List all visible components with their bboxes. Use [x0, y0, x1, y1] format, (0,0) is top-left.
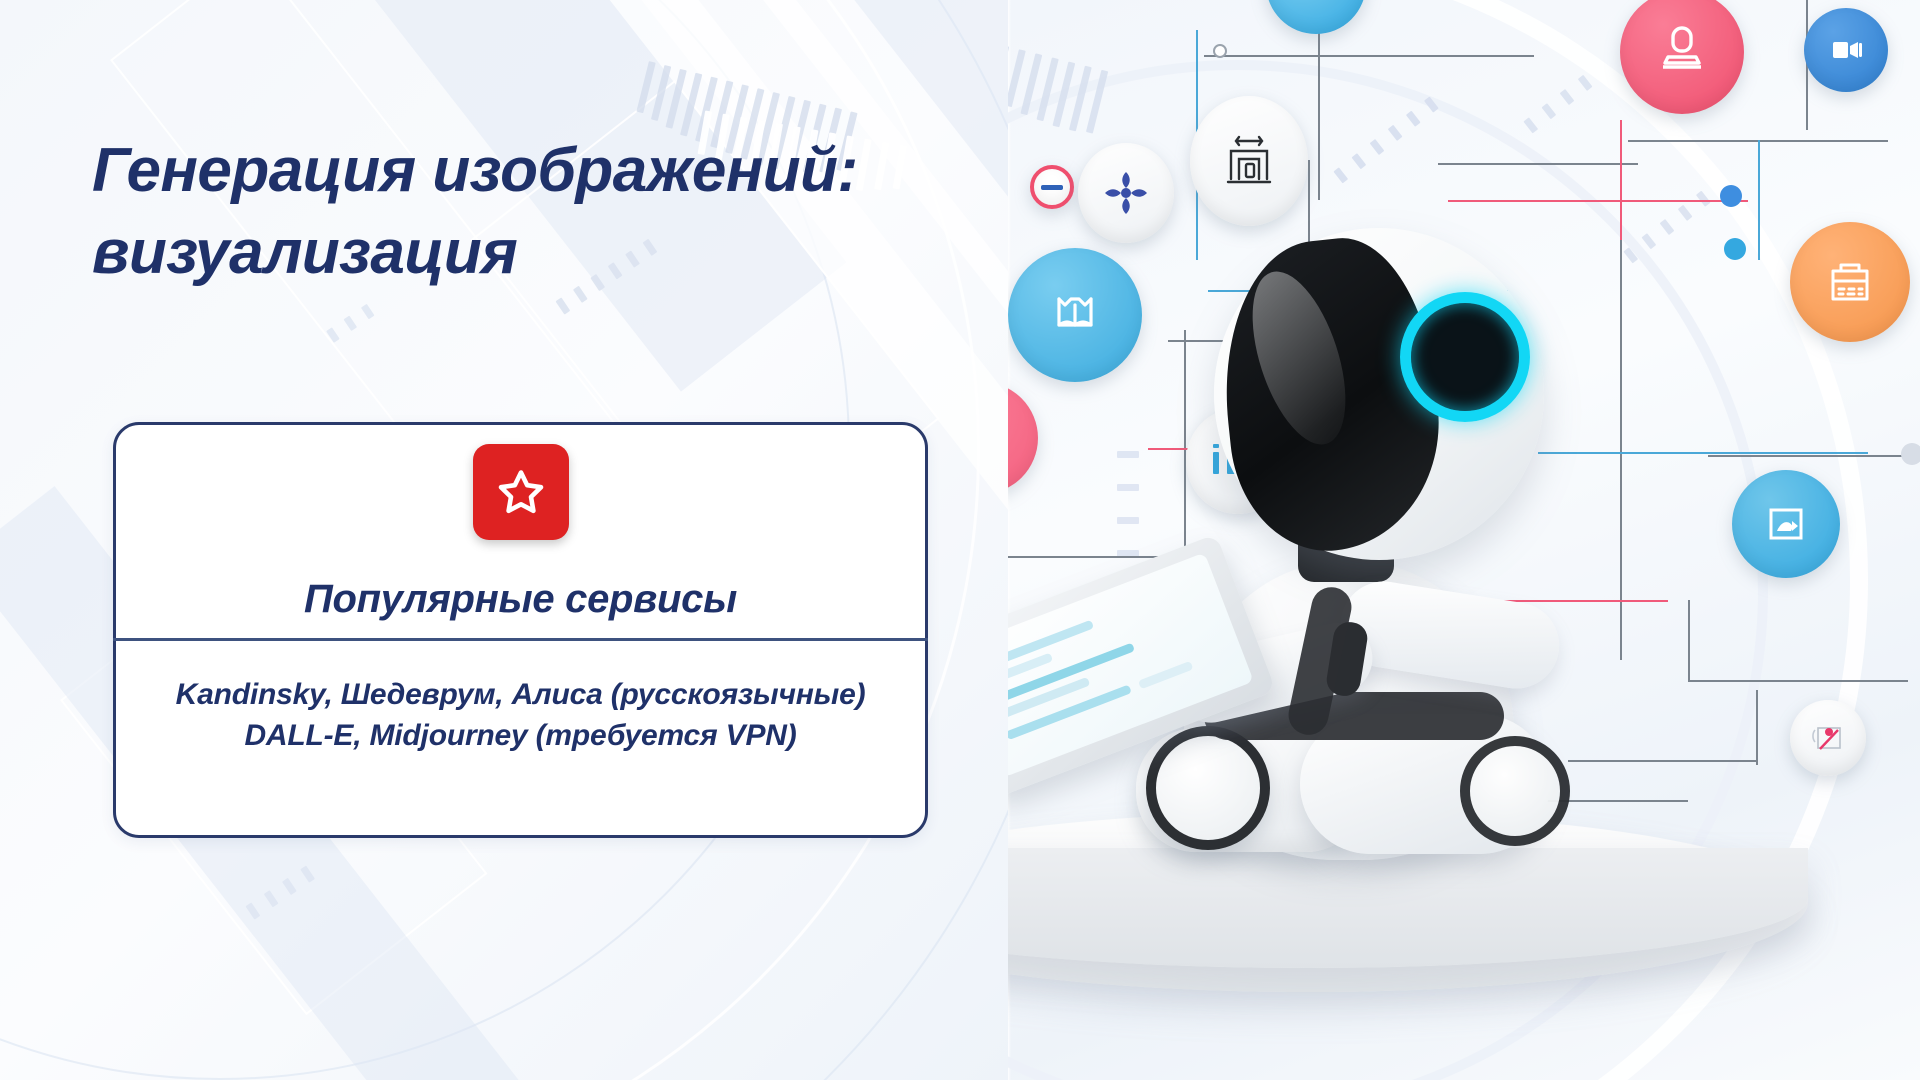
wire-22	[1688, 680, 1908, 682]
bubble-print[interactable]	[1190, 96, 1308, 226]
bubble-flower[interactable]	[1078, 143, 1174, 243]
bubble-no-entry[interactable]	[1030, 165, 1074, 209]
stamp-icon	[1651, 21, 1713, 83]
wire-20	[1538, 452, 1868, 454]
open-book-icon	[1043, 283, 1107, 347]
wire-4	[1204, 55, 1534, 57]
page-title: Генерация изображений: визуализация	[92, 130, 972, 294]
line-graph-icon	[1808, 718, 1848, 758]
card-heading: Популярные сервисы	[116, 577, 925, 622]
bubble-graph[interactable]	[1790, 700, 1866, 776]
machine-icon	[1819, 251, 1881, 313]
flower-icon	[1101, 168, 1151, 218]
illustration-panel	[1008, 0, 1920, 1080]
wire-27	[1708, 455, 1918, 457]
wire-7	[1448, 200, 1748, 202]
no-entry-icon	[1041, 185, 1063, 190]
node-dot-2	[1720, 185, 1742, 207]
title-line-1: Генерация изображений:	[92, 130, 972, 212]
bubble-image[interactable]	[1732, 470, 1840, 578]
bubble-book[interactable]	[1008, 248, 1142, 382]
wire-25	[1756, 690, 1758, 765]
wire-21	[1758, 140, 1760, 260]
robot-foot-right	[1460, 736, 1570, 846]
star-icon	[494, 465, 548, 519]
popular-services-card: Популярные сервисы Kandinsky, Шедеврум, …	[113, 422, 928, 838]
title-line-2: визуализация	[92, 212, 972, 294]
bg-ruler-band-3	[326, 304, 374, 343]
bubble-machine[interactable]	[1790, 222, 1910, 342]
service-line-2: DALL-E, Midjourney (требуется VPN)	[140, 716, 901, 757]
box-icon	[1008, 411, 1009, 465]
wire-17	[1620, 120, 1622, 240]
wire-18	[1620, 240, 1622, 660]
card-divider	[113, 638, 928, 641]
image-icon	[1759, 497, 1813, 551]
node-dot-4	[1901, 443, 1920, 465]
wire-23	[1688, 600, 1690, 682]
robot-foot-left	[1146, 726, 1270, 850]
bubble-stamp[interactable]	[1620, 0, 1744, 114]
wire-6	[1438, 163, 1638, 165]
robot-eye	[1400, 292, 1530, 422]
bubble-video[interactable]	[1804, 8, 1888, 92]
service-line-1: Kandinsky, Шедеврум, Алиса (русскоязычны…	[140, 675, 901, 716]
printer-icon	[1217, 129, 1281, 193]
card-body: Kandinsky, Шедеврум, Алиса (русскоязычны…	[140, 675, 901, 757]
video-camera-icon	[1826, 30, 1866, 70]
wire-24	[1568, 760, 1758, 762]
bg-ruler-band-6	[246, 866, 315, 920]
node-dot-5	[1213, 44, 1227, 58]
node-dot-3	[1724, 238, 1746, 260]
star-badge	[473, 444, 569, 540]
slide-root: Генерация изображений: визуализация Попу…	[0, 0, 1920, 1080]
